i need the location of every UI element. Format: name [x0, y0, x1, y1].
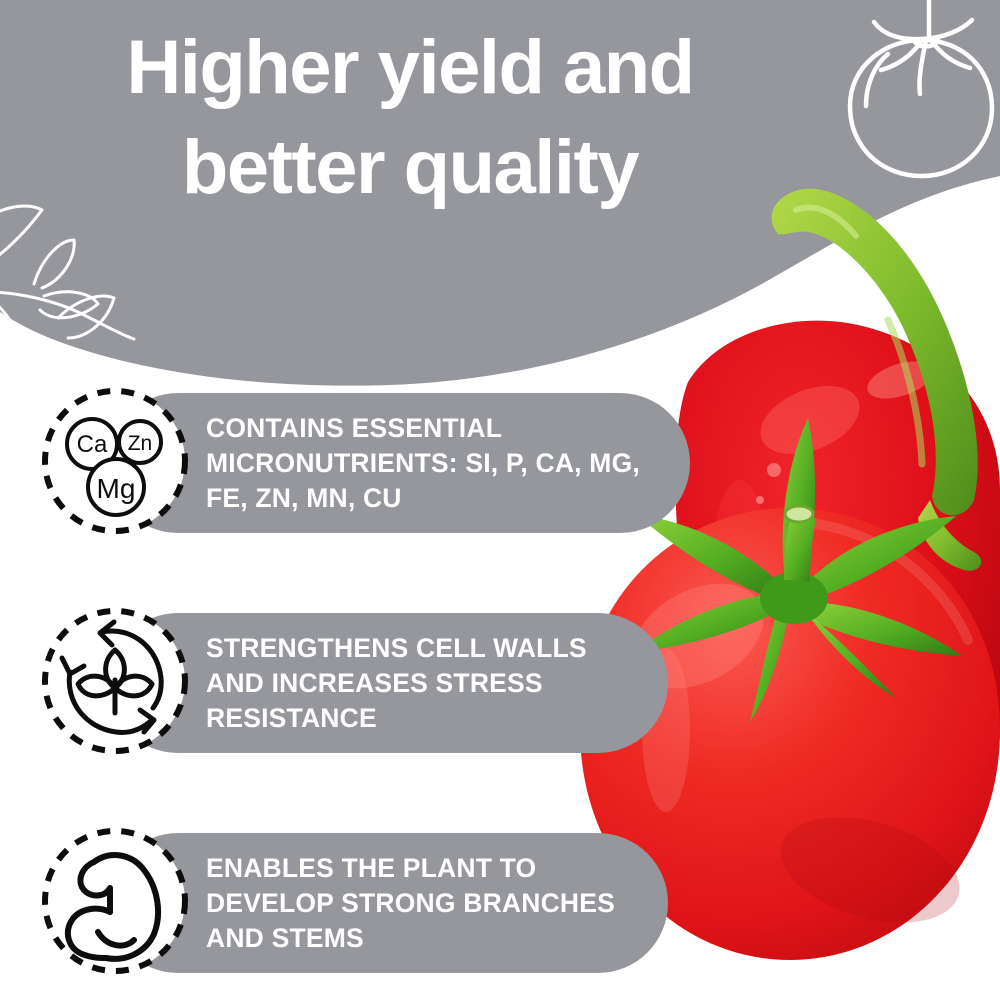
icon-label-mg: Mg	[97, 473, 136, 504]
feature-pill: Enables the plant to develop strong bran…	[108, 833, 668, 973]
micronutrients-icon: Ca Zn Mg	[40, 386, 190, 536]
feature-list: Contains essential micronutrients: Si, P…	[0, 386, 720, 976]
icon-label-ca: Ca	[77, 431, 108, 458]
feature-row: Strengthens cell walls and increases str…	[0, 606, 720, 756]
leaf-branch-icon	[0, 196, 176, 346]
plant-cycle-icon	[40, 606, 190, 756]
feature-row: Enables the plant to develop strong bran…	[0, 826, 720, 976]
poster-canvas: Higher yield and better quality Contains…	[0, 0, 1000, 1000]
feature-text: Strengthens cell walls and increases str…	[206, 631, 634, 736]
feature-pill: Strengthens cell walls and increases str…	[108, 613, 668, 753]
feature-row: Contains essential micronutrients: Si, P…	[0, 386, 720, 536]
tomato-outline-icon	[830, 0, 1000, 194]
icon-label-zn: Zn	[128, 432, 153, 455]
feature-text: Enables the plant to develop strong bran…	[206, 851, 634, 956]
feature-text: Contains essential micronutrients: Si, P…	[206, 411, 656, 516]
feature-pill: Contains essential micronutrients: Si, P…	[108, 393, 690, 533]
strong-arm-icon	[40, 826, 190, 976]
